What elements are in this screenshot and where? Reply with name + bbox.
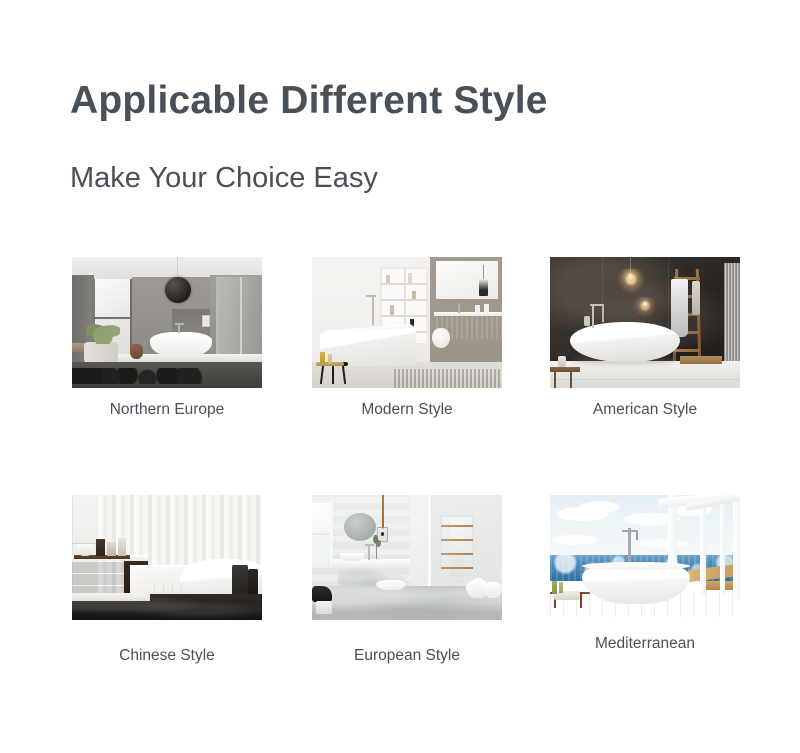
faucet-spout: [366, 295, 376, 297]
counter-jar: [96, 539, 105, 556]
counter-jar: [107, 542, 116, 556]
floor-faucet: [628, 528, 631, 562]
thumbnail-american-style[interactable]: [550, 257, 740, 388]
gallery-caption: Modern Style: [312, 401, 502, 419]
pendant-cord: [177, 257, 178, 279]
stool-leg: [320, 365, 324, 384]
pendant-glow: [616, 269, 646, 295]
wall-switch: [202, 315, 210, 327]
soap-bottle: [320, 352, 325, 363]
tub-faucet: [178, 324, 180, 333]
shelf-bottle: [408, 273, 412, 283]
window-blind: [724, 263, 740, 367]
pendant-lamp-icon: [479, 279, 488, 296]
rack-bar: [441, 567, 473, 569]
hanging-towel: [671, 279, 688, 337]
window-mullion: [733, 495, 740, 599]
decor-branch: [372, 535, 381, 549]
window-mullion: [700, 495, 706, 595]
waste-bin: [312, 586, 332, 602]
style-showcase-page: Applicable Different Style Make Your Cho…: [0, 0, 800, 753]
soap-bottle: [328, 354, 332, 364]
pendant-cord: [382, 495, 384, 529]
vanity-mirror: [436, 261, 498, 299]
shelf-bottle: [386, 275, 390, 283]
gallery-caption: Northern Europe: [72, 401, 262, 419]
pendant-bulb-icon: [643, 302, 647, 306]
sphere-pendant-lamp-icon: [165, 277, 191, 303]
rack-bar: [441, 539, 473, 541]
clay-vase: [130, 344, 143, 359]
folded-towels: [554, 591, 580, 600]
gallery-caption: American Style: [550, 401, 740, 419]
low-stool: [316, 601, 332, 614]
thumbnail-mediterranean[interactable]: [550, 495, 740, 618]
shelf: [380, 283, 428, 285]
tub-edge: [376, 580, 406, 590]
gallery-item-chinese-style[interactable]: Chinese Style: [72, 495, 262, 665]
shelf-bottle: [412, 291, 416, 299]
tub-faucet-spout: [175, 323, 184, 325]
pendant-bulb-icon: [381, 532, 384, 536]
faucet-handshower: [636, 531, 638, 540]
amenity-bottle: [559, 582, 563, 593]
oval-freestanding-tub: [570, 322, 680, 362]
basin-faucet: [458, 304, 460, 313]
vanity-cup: [484, 304, 489, 313]
gallery-item-modern-style[interactable]: Modern Style: [312, 257, 502, 419]
stool-leg: [342, 365, 346, 384]
table-leg: [570, 371, 572, 388]
tub-rim: [582, 562, 690, 570]
gallery-item-northern-europe[interactable]: Northern Europe: [72, 257, 262, 419]
cloud: [580, 501, 620, 513]
railing-leg: [580, 593, 582, 608]
wood-floor-strip: [680, 356, 722, 364]
cloud: [552, 535, 598, 545]
pendant-bulb-icon: [628, 274, 633, 279]
decor-pouf: [432, 328, 450, 348]
thumbnail-chinese-style[interactable]: [72, 495, 262, 620]
vessel-basin: [340, 553, 364, 561]
floor: [550, 361, 740, 388]
thumbnail-northern-europe[interactable]: [72, 257, 262, 388]
floor-seam: [550, 379, 740, 380]
table-leg: [554, 371, 556, 388]
floor-faucet: [372, 295, 374, 325]
ladder-rung: [674, 349, 700, 352]
basin-faucet: [368, 545, 370, 560]
door-frame: [428, 495, 431, 599]
floor-faucet: [592, 304, 594, 328]
bidet: [484, 582, 502, 598]
gallery-caption: European Style: [312, 647, 502, 665]
window-mullion: [312, 533, 332, 535]
style-gallery-grid: Northern Europe: [0, 0, 800, 753]
thumbnail-modern-style[interactable]: [312, 257, 502, 388]
window-mullion: [720, 495, 725, 595]
gallery-item-american-style[interactable]: American Style: [550, 257, 740, 419]
counter-jar: [118, 538, 126, 556]
gallery-item-mediterranean[interactable]: Mediterranean: [550, 495, 740, 653]
gallery-caption: Mediterranean: [550, 635, 740, 653]
gallery-caption: Chinese Style: [72, 647, 262, 665]
handheld-shower: [584, 316, 590, 326]
vanity-cup: [475, 305, 480, 313]
table-decor-object: [558, 356, 566, 367]
faucet-riser: [602, 305, 604, 322]
amenity-bottle: [552, 581, 557, 594]
hanging-towel: [692, 281, 700, 315]
floor-rug: [394, 369, 502, 388]
gallery-item-european-style[interactable]: European Style: [312, 495, 502, 665]
rectangular-tub: [320, 324, 416, 366]
floor-step-front: [72, 593, 150, 601]
plant-foliage: [86, 318, 120, 344]
stool-leg: [332, 365, 334, 384]
pendant-glow: [632, 297, 658, 319]
shelf-bottle: [390, 305, 394, 315]
shelf: [380, 299, 428, 301]
window-frame: [330, 501, 333, 567]
rack-bar: [441, 525, 473, 527]
pebble-bed: [72, 368, 217, 384]
rack-bar: [441, 553, 473, 555]
thumbnail-european-style[interactable]: [312, 495, 502, 620]
shelf: [380, 315, 428, 317]
cloud: [638, 539, 688, 548]
